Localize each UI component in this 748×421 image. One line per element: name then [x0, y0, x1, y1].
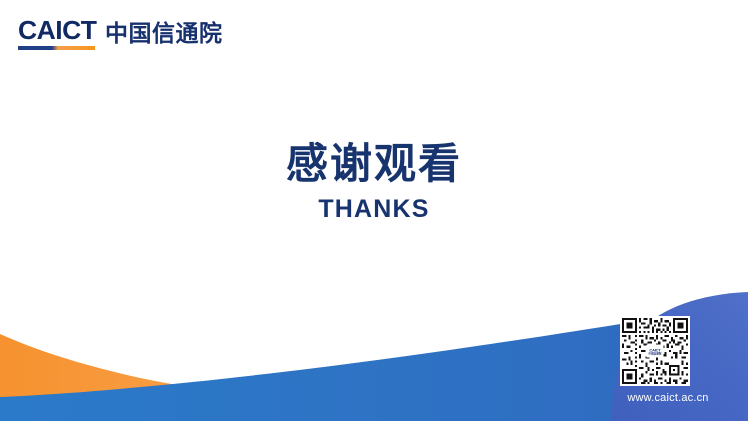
- logo-underline-bar: [18, 46, 95, 50]
- qr-code-block: CAICT 中国信通院: [620, 316, 692, 386]
- thanks-block: 感谢观看 THANKS: [0, 138, 748, 224]
- qr-logo-name-cn: 中国信通院: [649, 352, 662, 355]
- logo-acronym: CAICT: [18, 16, 96, 44]
- website-url[interactable]: www.caict.ac.cn: [603, 391, 733, 405]
- page-subtitle: THANKS: [0, 194, 748, 224]
- page-title: 感谢观看: [0, 138, 748, 190]
- logo-name-cn: 中国信通院: [105, 21, 223, 50]
- caict-logo: CAICT 中国信通院: [18, 16, 222, 50]
- qr-code-icon[interactable]: CAICT 中国信通院: [620, 316, 690, 386]
- caict-logo-icon: CAICT: [18, 16, 95, 50]
- orange-wave: [0, 334, 392, 421]
- qr-center-logo-icon: CAICT 中国信通院: [647, 345, 664, 358]
- slide-root: CAICT 中国信通院 感谢观看 THANKS: [0, 0, 748, 421]
